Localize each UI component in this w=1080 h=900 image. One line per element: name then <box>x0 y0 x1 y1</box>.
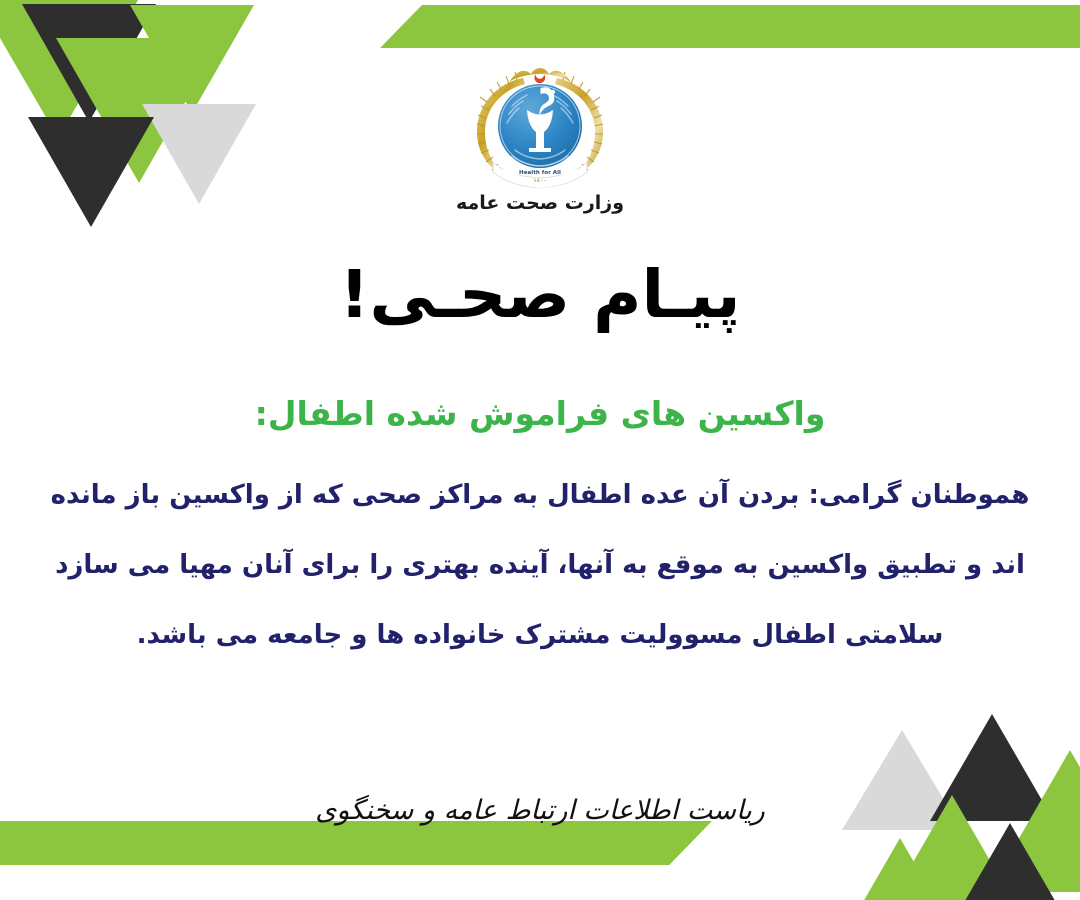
ministry-name-label: وزارت صحت عامه <box>0 192 1080 214</box>
red-crescent-icon <box>534 75 545 84</box>
bottom-green-slanted-bar <box>0 821 712 865</box>
decorative-triangle-dark-bottom-lower <box>944 823 1076 900</box>
body-line: هموطنان گرامی: بردن آن عده اطفال به مراک… <box>40 480 1040 510</box>
ribbon-health-for-all-text: Health for All <box>519 170 561 176</box>
footer-calligraphy: ریاست اطلاعات ارتباط عامه و سخنگوی <box>0 795 1080 826</box>
subtitle-heading: واکسین های فراموش شده اطفال: <box>0 394 1080 433</box>
body-text-block: هموطنان گرامی: بردن آن عده اطفال به مراک… <box>40 480 1040 650</box>
health-message-poster: Health for All ١٤٠٠ وزارت صحت عامه پیـام… <box>0 0 1080 900</box>
top-green-slanted-bar <box>380 5 1080 48</box>
body-line: سلامتی اطفال مسوولیت مشترک خانواده ها و … <box>40 620 1040 650</box>
ribbon-date-text: ١٤٠٠ <box>533 178 546 184</box>
logo-block: Health for All ١٤٠٠ وزارت صحت عامه <box>0 62 1080 214</box>
body-line: اند و تطبیق واکسین به موقع به آنها، آیند… <box>40 550 1040 580</box>
decorative-triangle-green-bottom-small <box>848 838 952 900</box>
page-title: پیـام صحـی! <box>0 256 1080 333</box>
moph-afghanistan-emblem-icon: Health for All ١٤٠٠ <box>465 62 615 190</box>
